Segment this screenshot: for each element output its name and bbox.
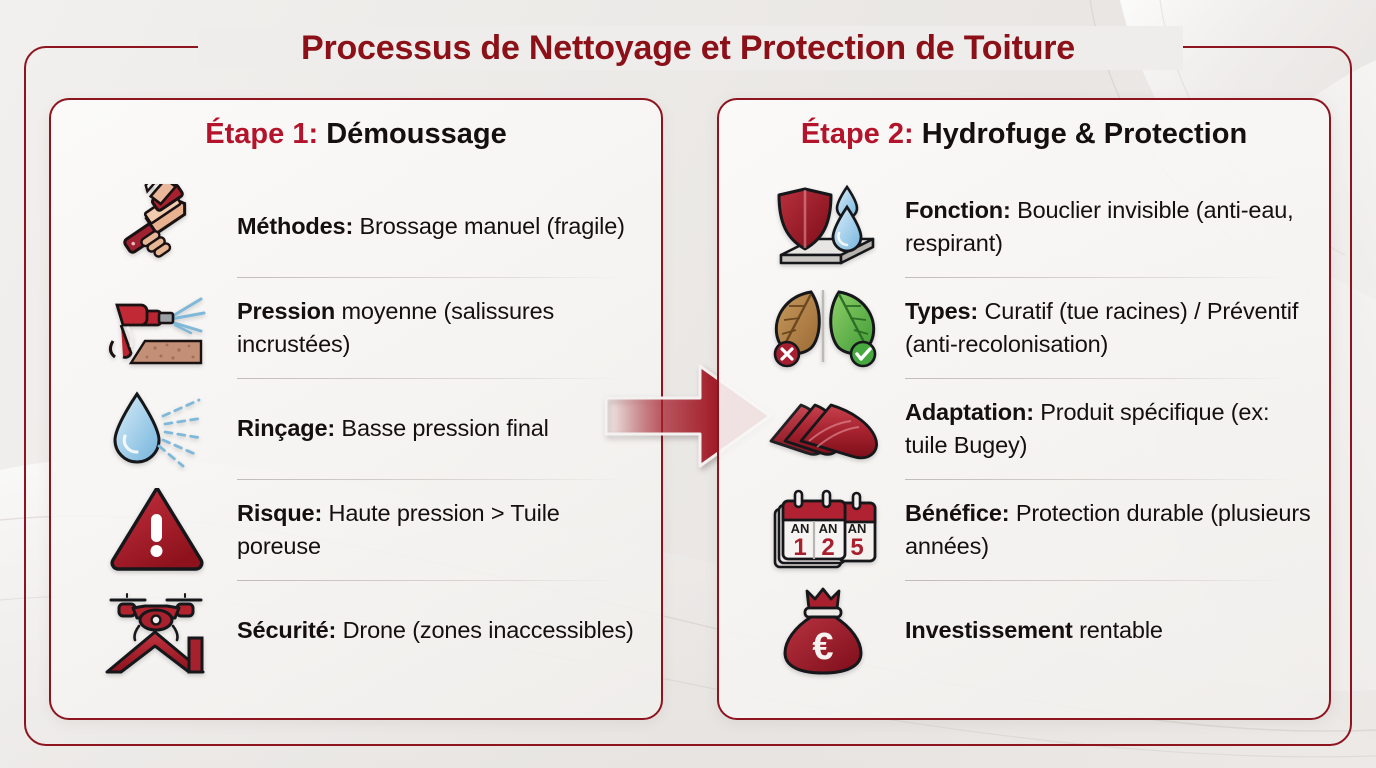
list-item[interactable]: Méthodes: Brossage manuel (fragile) [51, 176, 661, 277]
list-item-label: Adaptation: [905, 399, 1034, 425]
list-item-label: Investissement [905, 617, 1073, 643]
step-1-label: Étape 1: [205, 118, 318, 150]
list-item-text: Rinçage: Basse pression final [237, 412, 549, 445]
list-item[interactable]: Fonction: Bouclier invisible (anti-eau, … [719, 176, 1329, 277]
step-2-label: Étape 2: [801, 118, 914, 150]
list-item-label: Pression [237, 298, 335, 324]
euro-symbol: € [812, 626, 833, 668]
dead-leaf-green-leaf-icon [745, 282, 905, 374]
list-item-text: Méthodes: Brossage manuel (fragile) [237, 210, 625, 243]
warning-triangle-icon [77, 484, 237, 576]
list-item-label: Fonction: [905, 197, 1011, 223]
list-item-text: Adaptation: Produit spécifique (ex: tuil… [905, 396, 1315, 462]
list-item-label: Bénéfice: [905, 500, 1009, 526]
list-item[interactable]: Types: Curatif (tue racines) / Préventif… [719, 277, 1329, 378]
calendar-number-2: 2 [821, 534, 834, 561]
drone-over-roof-icon [77, 585, 237, 677]
pressure-washer-icon [77, 282, 237, 374]
scrub-brush-hand-icon [77, 181, 237, 273]
step-1-title: Démoussage [326, 118, 507, 150]
list-item-label: Types: [905, 298, 978, 324]
list-item-text: Fonction: Bouclier invisible (anti-eau, … [905, 194, 1315, 260]
step-1-row-list: Méthodes: Brossage manuel (fragile) [51, 176, 661, 681]
roof-tiles-icon [745, 383, 905, 475]
list-item-text: Investissement rentable [905, 614, 1163, 647]
list-item-text: Pression moyenne (salissures incrustées) [237, 295, 647, 361]
list-item-label: Méthodes: [237, 213, 353, 239]
page-title: Processus de Nettoyage et Protection de … [0, 26, 1376, 70]
calendar-number-1: 1 [793, 534, 806, 561]
water-droplet-spray-icon [77, 383, 237, 475]
list-item-label: Rinçage: [237, 415, 335, 441]
list-item-text: Sécurité: Drone (zones inaccessibles) [237, 614, 634, 647]
list-item[interactable]: Pression moyenne (salissures incrustées) [51, 277, 661, 378]
list-item[interactable]: Risque: Haute pression > Tuile poreuse [51, 479, 661, 580]
money-bag-euro-icon: € [745, 585, 905, 677]
shield-water-repellent-icon [745, 181, 905, 273]
list-item[interactable]: Sécurité: Drone (zones inaccessibles) [51, 580, 661, 681]
panel-step-2: Étape 2: Hydrofuge & Protection [717, 98, 1331, 720]
panel-step-1-heading: Étape 1: Démoussage [51, 118, 661, 151]
list-item-text: Types: Curatif (tue racines) / Préventif… [905, 295, 1315, 361]
list-item-value: Drone (zones inaccessibles) [336, 617, 634, 643]
calendar-number-5: 5 [850, 534, 863, 561]
step-2-row-list: Fonction: Bouclier invisible (anti-eau, … [719, 176, 1329, 681]
list-item-text: Risque: Haute pression > Tuile poreuse [237, 497, 647, 563]
step-2-title: Hydrofuge & Protection [922, 118, 1247, 150]
list-item-text: Bénéfice: Protection durable (plusieurs … [905, 497, 1315, 563]
list-item-value: rentable [1073, 617, 1163, 643]
list-item-label: Risque: [237, 500, 322, 526]
list-item-value: Basse pression final [335, 415, 549, 441]
panel-step-1: Étape 1: Démoussage [49, 98, 663, 720]
list-item-value: Brossage manuel (fragile) [353, 213, 625, 239]
list-item[interactable]: Adaptation: Produit spécifique (ex: tuil… [719, 378, 1329, 479]
list-item[interactable]: Rinçage: Basse pression final [51, 378, 661, 479]
panel-step-2-heading: Étape 2: Hydrofuge & Protection [719, 118, 1329, 151]
list-item-label: Sécurité: [237, 617, 336, 643]
calendar-years-icon: AN 5 AN AN 1 2 [745, 484, 905, 576]
list-item[interactable]: € Investissement rentable [719, 580, 1329, 681]
list-item[interactable]: AN 5 AN AN 1 2 [719, 479, 1329, 580]
